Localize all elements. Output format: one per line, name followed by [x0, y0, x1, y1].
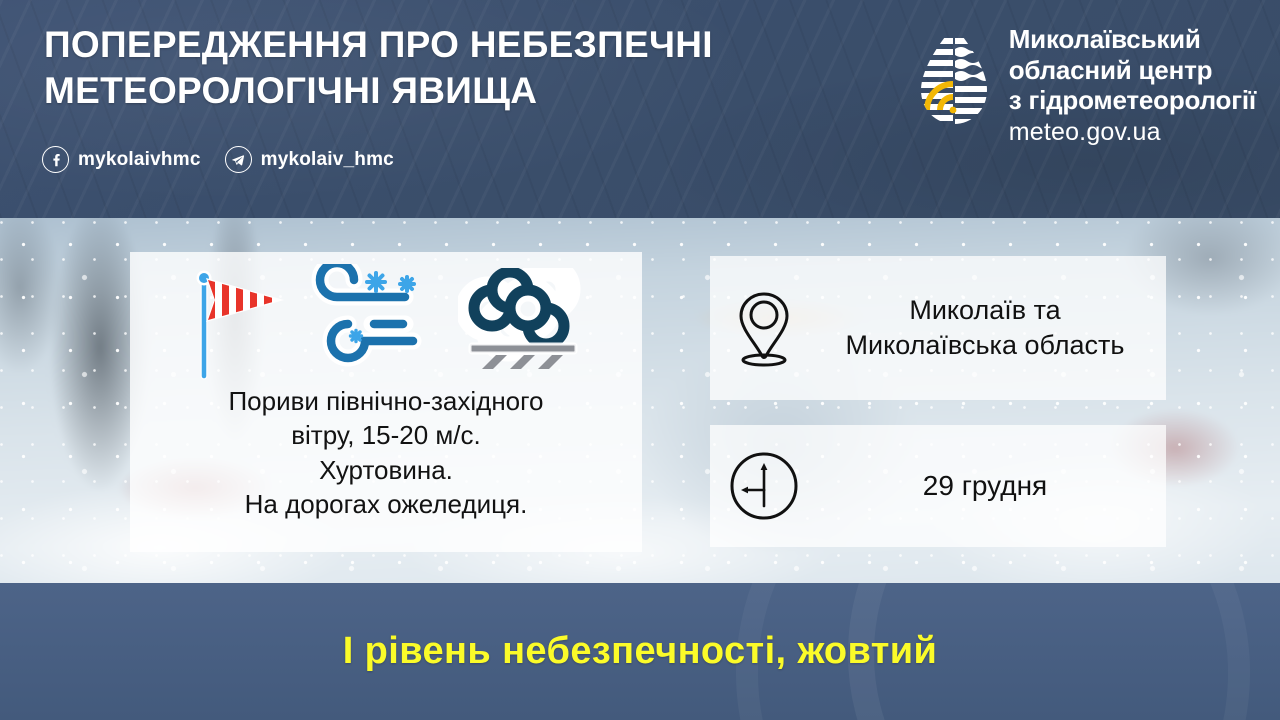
location-pin-icon	[732, 288, 796, 368]
water-droplet-logo-icon	[915, 24, 993, 128]
logo-line-3: з гідрометеорології	[1009, 85, 1256, 116]
warning-line-4: На дорогах ожеледиця.	[228, 487, 543, 521]
clock-icon	[727, 449, 801, 523]
location-pin-icon-wrap	[710, 288, 818, 368]
facebook-icon	[42, 146, 69, 173]
social-links: mykolaivhmc mykolaiv_hmc	[42, 146, 394, 173]
danger-level-banner: І рівень небезпечності, жовтий	[0, 583, 1280, 720]
region-line-2: Миколаївська область	[818, 328, 1152, 363]
page-title: ПОПЕРЕДЖЕННЯ ПРО НЕБЕЗПЕЧНІ МЕТЕОРОЛОГІЧ…	[44, 22, 824, 113]
warning-line-1: Пориви північно-західного	[228, 384, 543, 418]
logo-text: Миколаївський обласний центр з гідромете…	[1009, 24, 1256, 148]
social-telegram[interactable]: mykolaiv_hmc	[225, 146, 394, 173]
logo-line-2: обласний центр	[1009, 55, 1256, 86]
header-bar: ПОПЕРЕДЖЕННЯ ПРО НЕБЕЗПЕЧНІ МЕТЕОРОЛОГІЧ…	[0, 0, 1280, 218]
region-card: Миколаїв та Миколаївська область	[710, 256, 1166, 400]
danger-level-text: І рівень небезпечності, жовтий	[343, 630, 938, 673]
black-ice-road-icon	[458, 268, 588, 372]
warning-card: Пориви північно-західного вітру, 15-20 м…	[130, 252, 642, 552]
headline-line-2: МЕТЕОРОЛОГІЧНІ ЯВИЩА	[44, 68, 824, 114]
facebook-handle: mykolaivhmc	[78, 149, 201, 171]
warning-text: Пориви північно-західного вітру, 15-20 м…	[220, 384, 551, 521]
social-facebook[interactable]: mykolaivhmc	[42, 146, 201, 173]
date-card: 29 грудня	[710, 425, 1166, 547]
region-line-1: Миколаїв та	[818, 293, 1152, 328]
logo-website-url[interactable]: meteo.gov.ua	[1009, 118, 1256, 148]
winter-photo-background: Пориви північно-західного вітру, 15-20 м…	[0, 218, 1280, 583]
warning-line-2: вітру, 15-20 м/с.	[228, 418, 543, 452]
region-text: Миколаїв та Миколаївська область	[818, 293, 1166, 363]
warning-icon-row	[184, 256, 588, 384]
wind-pennant-flag-icon	[184, 258, 288, 382]
weather-warning-poster: ПОПЕРЕДЖЕННЯ ПРО НЕБЕЗПЕЧНІ МЕТЕОРОЛОГІЧ…	[0, 0, 1280, 720]
telegram-handle: mykolaiv_hmc	[261, 149, 394, 171]
date-text: 29 грудня	[818, 468, 1166, 504]
blizzard-snow-wind-icon	[310, 264, 436, 376]
warning-line-3: Хуртовина.	[228, 453, 543, 487]
organization-logo[interactable]: Миколаївський обласний центр з гідромете…	[915, 24, 1256, 148]
logo-line-1: Миколаївський	[1009, 24, 1256, 55]
clock-icon-wrap	[710, 449, 818, 523]
telegram-icon	[225, 146, 252, 173]
headline-line-1: ПОПЕРЕДЖЕННЯ ПРО НЕБЕЗПЕЧНІ	[44, 24, 713, 65]
